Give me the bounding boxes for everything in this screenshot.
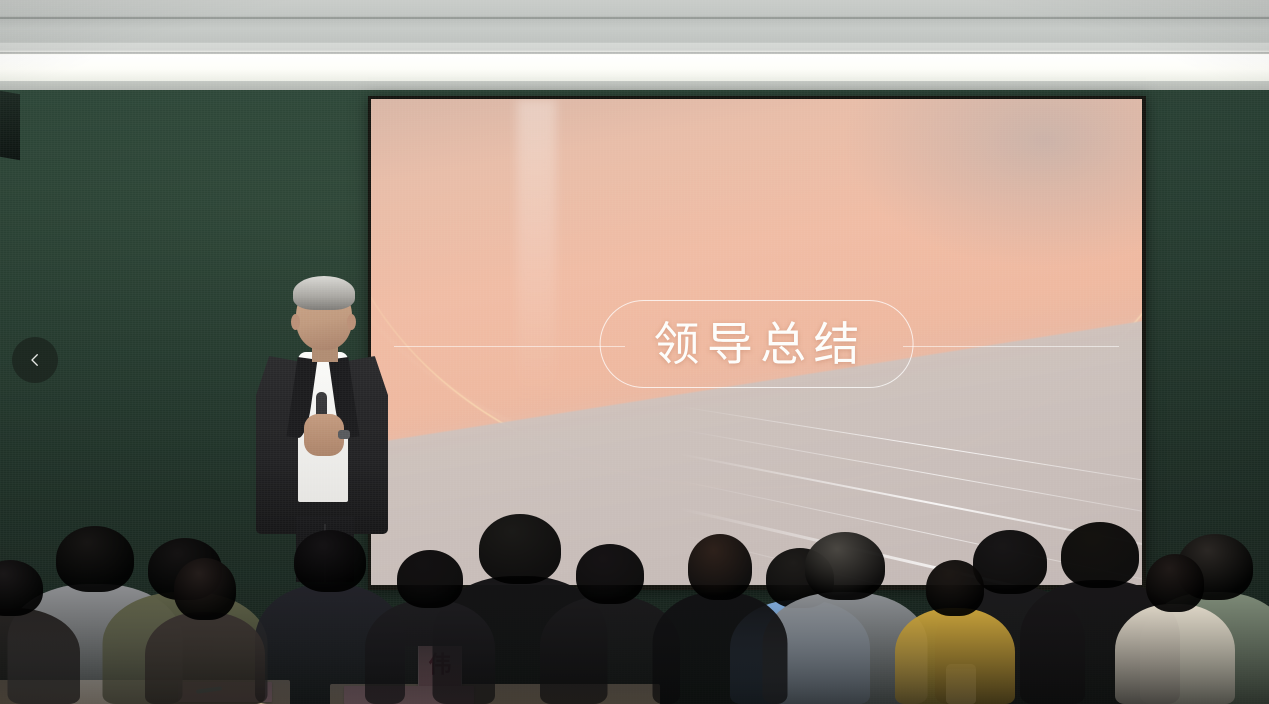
- slide-rule-right: [903, 346, 1119, 347]
- presenter-ear: [347, 314, 356, 330]
- attendee-dark-left-head: [0, 560, 43, 616]
- presenter-ear: [291, 314, 300, 330]
- presenter-hair: [293, 276, 355, 310]
- attendee-long-hair-left-torso: [145, 612, 265, 704]
- slide-rule-left: [394, 346, 625, 347]
- conference-photo: 领导总结 伟: [0, 0, 1269, 704]
- audience: [0, 454, 1269, 704]
- attendee-cream-coat-torso: [1115, 604, 1235, 704]
- slide-title-pill: 领导总结: [599, 300, 914, 388]
- presenter-watch: [338, 430, 350, 439]
- wall-fixture: [0, 90, 20, 161]
- attendee-dark-left-torso: [0, 608, 80, 704]
- attendee-mustard-coat-head: [926, 560, 984, 616]
- previous-image-button[interactable]: [12, 337, 58, 383]
- attendee-center-dark-torso: [365, 600, 495, 704]
- attendee-bun-hair: [653, 526, 788, 704]
- ceiling-rail: [0, 52, 1269, 54]
- attendee-dark-left: [0, 552, 80, 704]
- attendee-grey-knit-head: [805, 532, 885, 600]
- slide-title: 领导总结: [646, 321, 867, 367]
- attendee-black-jacket-head: [576, 544, 644, 604]
- attendee-bun-hair-head: [688, 534, 752, 600]
- attendee-long-hair-left-head: [174, 558, 236, 620]
- attendee-long-hair-left: [145, 550, 265, 704]
- ceiling-rail: [0, 17, 1269, 19]
- attendee-bun-hair-torso: [653, 592, 788, 704]
- attendee-center-dark: [365, 542, 495, 704]
- attendee-mustard-coat-torso: [895, 608, 1015, 704]
- attendee-center-dark-head: [397, 550, 463, 608]
- ceiling: [0, 0, 1269, 96]
- attendee-navy-suit-head: [294, 530, 366, 592]
- attendee-cream-coat: [1115, 546, 1235, 704]
- ceiling-light-strip: [0, 55, 1269, 81]
- chevron-left-icon: [26, 351, 44, 369]
- attendee-cream-coat-head: [1146, 554, 1204, 612]
- attendee-mustard-coat: [895, 552, 1015, 704]
